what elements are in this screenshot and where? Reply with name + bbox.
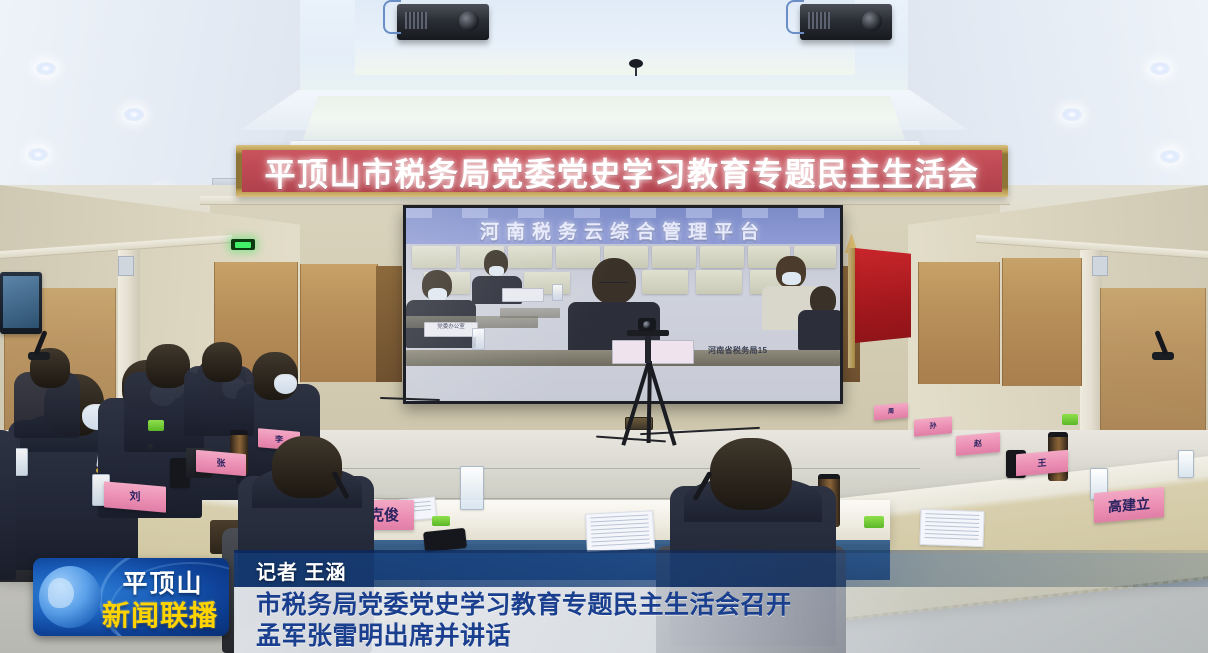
channel-logo: 平顶山 新闻联播 [33,558,229,636]
nameplate: 张 [196,450,246,476]
green-tea-box [148,420,164,431]
projector-lens [459,11,479,31]
wood-panel [918,262,1000,384]
wall-trim-back [200,196,1010,205]
wood-panel [1100,288,1206,432]
nameplate-text: 孙 [930,423,937,431]
projector-mount-arm [786,0,804,34]
smoke-detector [629,59,643,68]
nameplate: 王 [1016,450,1068,477]
wall-switch-right[interactable] [1092,256,1108,276]
wall-monitor-left [0,272,42,334]
green-tea-box [1062,414,1078,425]
nameplate-gao-jianli: 高建立 [1094,487,1164,523]
red-banner-text: 平顶山市税务局党委党史学习教育专题民主生活会 [265,150,980,192]
green-tea-box [864,516,884,528]
wood-panel [1002,258,1082,386]
nameplate-text: 高建立 [1108,496,1150,514]
ceiling-projector-right [800,4,892,40]
wood-trim [376,266,402,382]
wood-panel [300,264,378,382]
downlight [1062,108,1082,121]
water-glass [1178,450,1194,478]
downlight [28,148,48,161]
lower-third-overlay: 记者 王涵 市税务局党委党史学习教育专题民主生活会召开 孟军张雷明出席并讲话 平… [0,545,1208,653]
floor-seam [300,468,920,469]
nameplate-text: 王 [1037,458,1046,468]
channel-logo-line2: 新闻联播 [95,594,225,634]
water-glass [460,466,484,510]
ceiling-projector-left [397,4,489,40]
nameplate-text: 刘 [130,491,141,503]
reporter-label: 记者 王涵 [256,556,347,585]
tripod-column [645,335,651,363]
conference-camera [638,318,656,331]
projector-grille [808,12,830,29]
projector-lens [862,11,882,31]
nameplate: 赵 [956,432,1000,456]
tripod-leg [647,361,652,443]
downlight [124,108,144,121]
wall-column-right [1080,250,1102,430]
flag-pole [848,248,855,368]
nameplate: 刘 [104,481,166,512]
headline-line-2: 孟军张雷明出席并讲话 [256,621,1208,652]
headline-bar: 市税务局党委党史学习教育专题民主生活会召开 孟军张雷明出席并讲话 [234,587,1208,653]
globe-icon [39,566,101,628]
document-stack [919,509,984,547]
downlight [1160,150,1180,163]
exit-sign [231,239,255,250]
nameplate-text: 赵 [974,440,982,449]
reporter-bar: 记者 王涵 [234,553,1208,587]
nameplate-text: 张 [216,458,225,468]
downlight [1150,62,1170,75]
red-flag [855,248,911,343]
projector-grille [405,12,427,29]
red-banner: 平顶山市税务局党委党史学习教育专题民主生活会 [242,150,1002,192]
headline-line-1: 市税务局党委党史学习教育专题民主生活会召开 [256,590,1208,621]
red-banner-frame: 平顶山市税务局党委党史学习教育专题民主生活会 [236,145,1008,197]
broadcast-video-frame: 平顶山市税务局党委党史学习教育专题民主生活会 河南税务云综合管理平台 [0,0,1208,653]
wall-switch-left[interactable] [118,256,134,276]
green-tea-box [432,516,450,526]
nameplate-text: 周 [888,408,894,415]
downlight [36,62,56,75]
nameplate: 周 [874,403,908,421]
nameplate: 孙 [914,416,952,436]
camera-tripod [614,318,684,448]
projector-mount-arm [383,0,401,34]
